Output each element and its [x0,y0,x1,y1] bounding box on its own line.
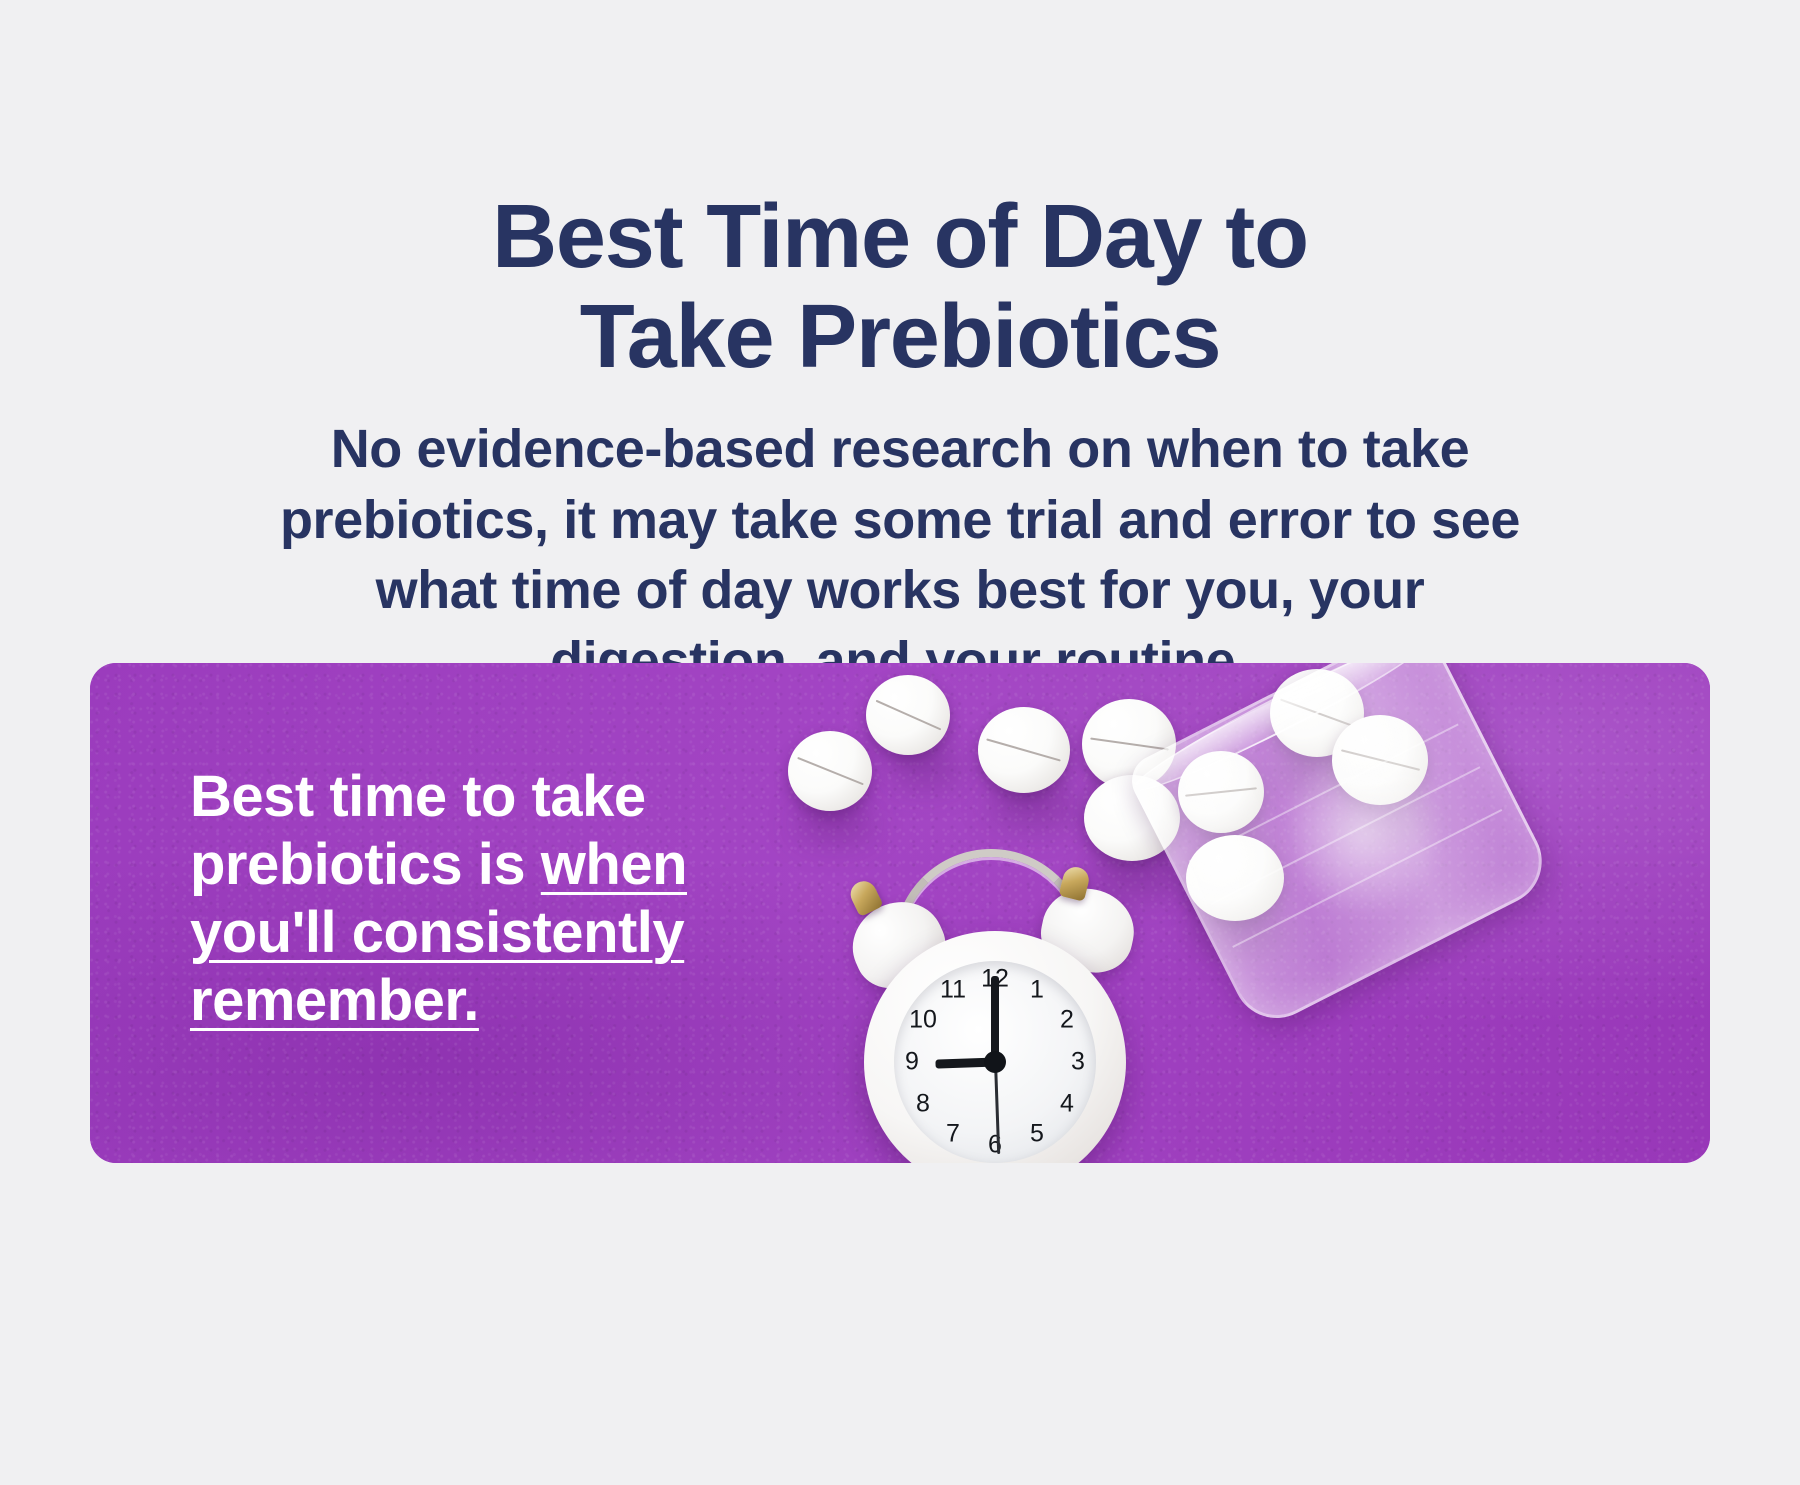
clock-numeral: 2 [1052,1008,1082,1033]
callout-line-3-emphasis: you'll consistently [190,900,684,965]
page-title: Best Time of Day to Take Prebiotics [0,188,1800,388]
intro-paragraph: No evidence-based research on when to ta… [0,414,1800,697]
clock-numeral: 4 [1052,1092,1082,1117]
page-title-line-2: Take Prebiotics [230,288,1570,388]
clock-numeral: 11 [938,978,968,1003]
callout-line-3: you'll consistently [190,899,830,967]
clock-numeral: 6 [980,1133,1010,1158]
callout-line-2-emphasis: when [541,832,687,897]
measuring-cup-icon [1123,663,1557,1033]
callout-line-4: remember. [190,967,830,1035]
pill-icon [978,707,1070,793]
infographic-root: Best Time of Day to Take Prebiotics No e… [0,0,1800,1485]
callout-line-1: Best time to take [190,763,830,831]
card-callout-text: Best time to take prebiotics is when you… [190,763,830,1036]
callout-card: 12 1 2 3 4 5 6 7 8 9 10 11 [90,663,1710,1163]
clock-numeral: 7 [938,1122,968,1147]
pill-icon [866,675,950,755]
clock-numeral: 10 [908,1008,938,1033]
clock-numeral: 1 [1022,978,1052,1003]
clock-numeral: 3 [1063,1050,1093,1075]
alarm-clock-icon: 12 1 2 3 4 5 6 7 8 9 10 11 [846,875,1146,1163]
callout-line-2-plain: prebiotics is [190,832,541,897]
clock-numeral: 9 [897,1050,927,1075]
clock-center-pin [984,1051,1006,1073]
callout-line-4-emphasis: remember. [190,968,479,1033]
page-title-line-1: Best Time of Day to [230,188,1570,288]
cup-highlight [1252,723,1473,943]
intro-paragraph-line-2: prebiotics, it may take some trial and e… [180,485,1620,556]
intro-paragraph-line-3: what time of day works best for you, you… [180,555,1620,626]
intro-paragraph-line-1: No evidence-based research on when to ta… [180,414,1620,485]
clock-numeral: 8 [908,1092,938,1117]
clock-minute-hand [991,976,999,1062]
clock-dial: 12 1 2 3 4 5 6 7 8 9 10 11 [894,961,1096,1163]
callout-line-2: prebiotics is when [190,831,830,899]
clock-numeral: 5 [1022,1122,1052,1147]
